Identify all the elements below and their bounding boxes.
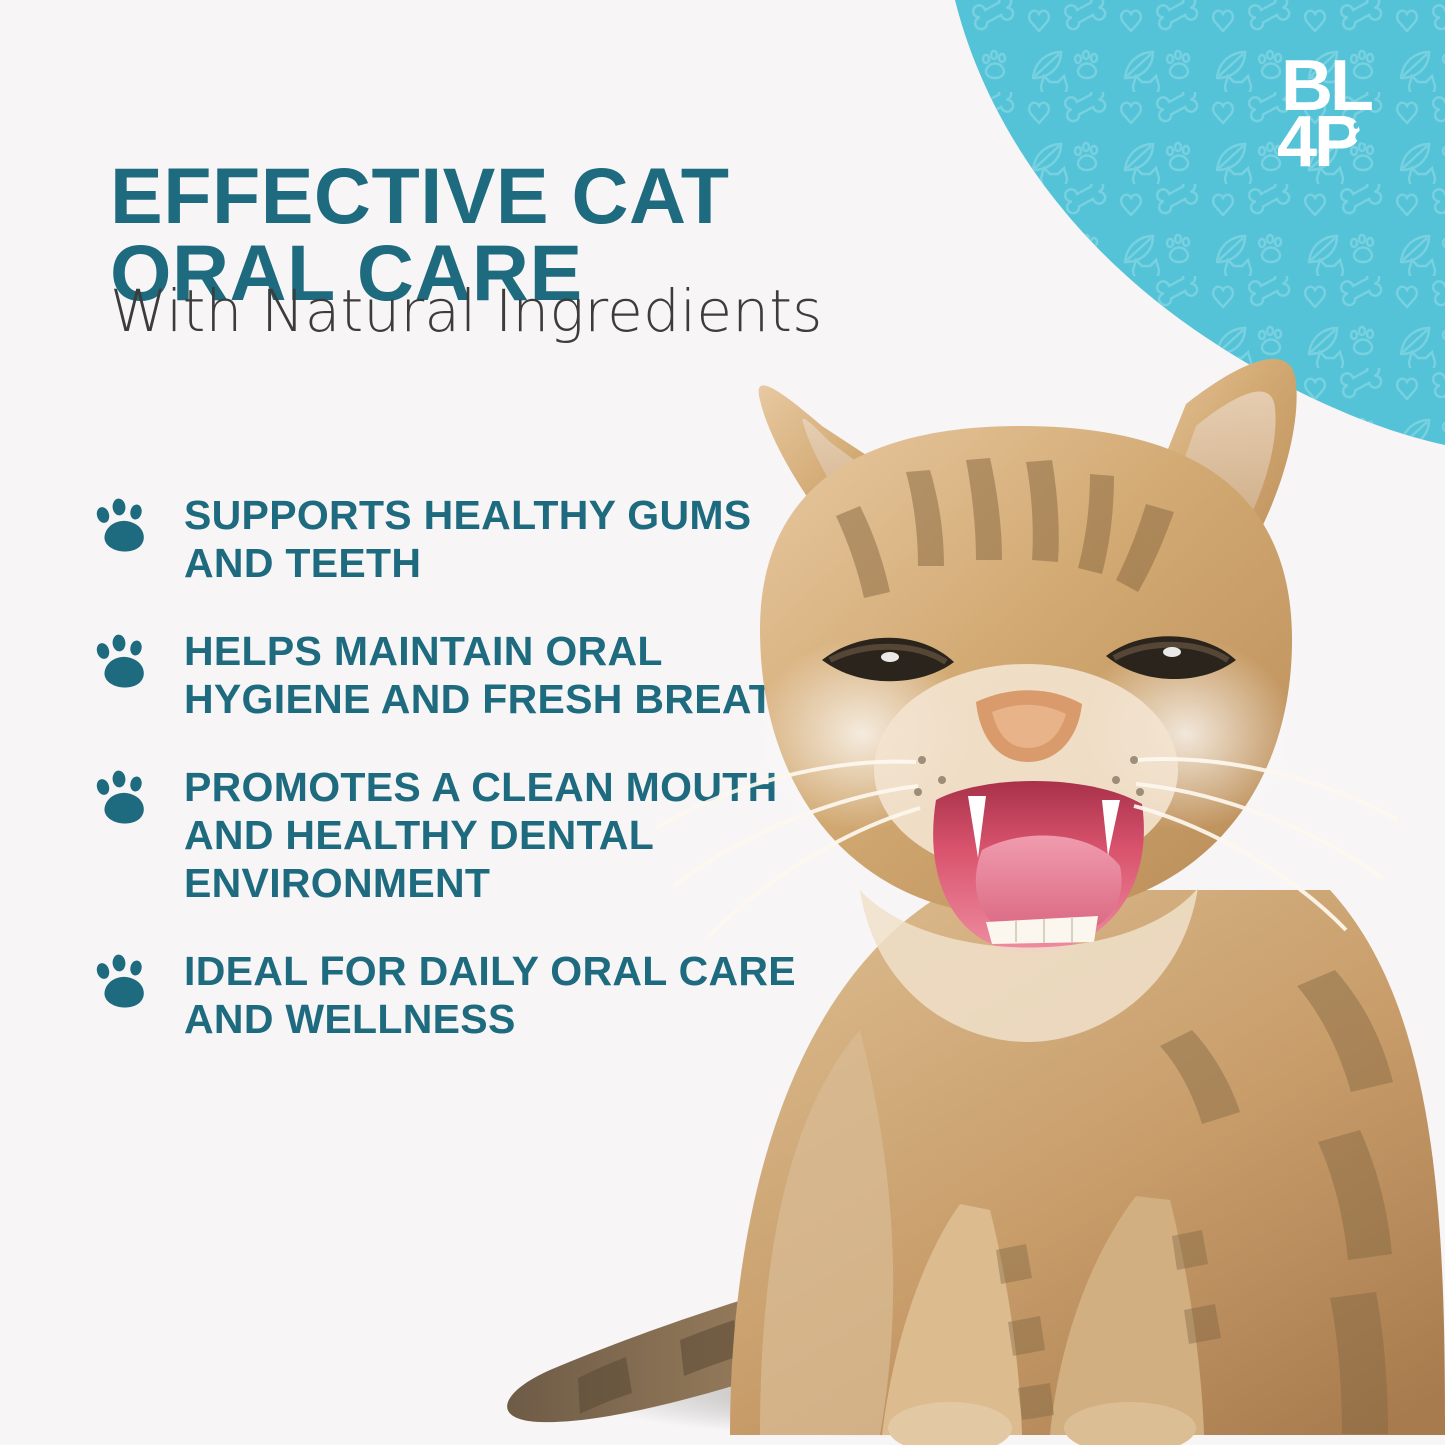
list-item: HELPS MAINTAIN ORAL HYGIENE AND FRESH BR… — [96, 628, 816, 724]
paw-print-icon — [96, 634, 152, 692]
cat-nose — [976, 690, 1082, 762]
cat-muzzle — [874, 664, 1178, 876]
cat-eyes — [822, 636, 1236, 681]
benefit-text: IDEAL FOR DAILY ORAL CARE AND WELLNESS — [184, 948, 816, 1044]
cat-tail — [507, 1235, 1005, 1422]
cat-front-legs — [882, 1196, 1221, 1445]
bl4p-logo[interactable]: BL 4P — [1277, 48, 1405, 180]
benefit-text: PROMOTES A CLEAN MOUTH AND HEALTHY DENTA… — [184, 764, 816, 908]
subtitle: With Natural Ingredients — [110, 281, 870, 342]
list-item: PROMOTES A CLEAN MOUTH AND HEALTHY DENTA… — [96, 764, 816, 908]
cat-chin-ruff — [860, 888, 1198, 1042]
cat-mouth — [933, 781, 1144, 952]
cat-ears — [759, 359, 1297, 598]
product-infographic: BL 4P EFFECTIVE CAT ORAL CARE With Natur… — [0, 0, 1445, 1445]
benefit-text: SUPPORTS HEALTHY GUMS AND TEETH — [184, 492, 816, 588]
list-item: IDEAL FOR DAILY ORAL CARE AND WELLNESS — [96, 948, 816, 1044]
whisker-dots — [914, 756, 1144, 796]
paw-print-icon — [96, 498, 152, 556]
list-item: SUPPORTS HEALTHY GUMS AND TEETH — [96, 492, 816, 588]
cat-shadow — [570, 1346, 1230, 1438]
headline-line-1: EFFECTIVE CAT — [110, 151, 729, 240]
paw-print-icon — [96, 954, 152, 1012]
logo-mark: BL 4P — [1277, 48, 1405, 180]
paw-print-icon — [96, 770, 152, 828]
forehead-stripes — [836, 458, 1174, 598]
cat-body — [730, 890, 1445, 1435]
logo-text-4p: 4P — [1277, 102, 1360, 180]
benefits-list: SUPPORTS HEALTHY GUMS AND TEETH HELPS MA… — [96, 492, 816, 1044]
benefit-text: HELPS MAINTAIN ORAL HYGIENE AND FRESH BR… — [184, 628, 816, 724]
